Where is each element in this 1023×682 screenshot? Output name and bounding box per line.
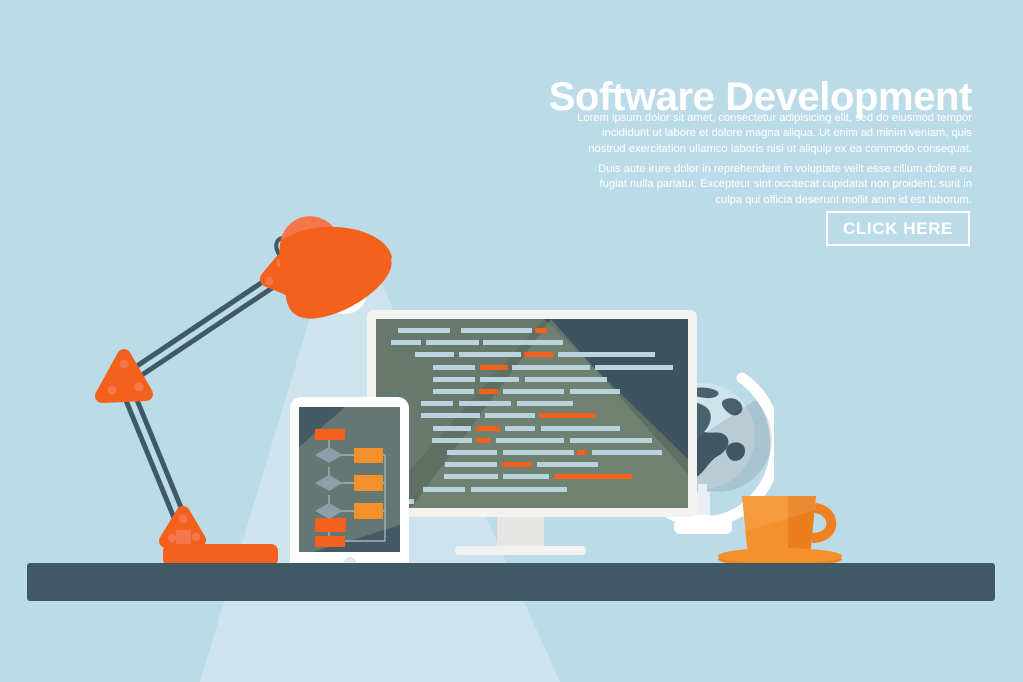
code-line-segment — [503, 450, 574, 455]
code-line-segment — [433, 389, 474, 394]
monitor-stand-base — [455, 546, 586, 555]
code-line-segment — [535, 328, 547, 333]
code-line-segment — [502, 462, 532, 467]
code-line-segment — [595, 365, 673, 370]
code-line-segment — [505, 426, 535, 431]
code-line-segment — [433, 426, 471, 431]
code-line-segment — [525, 377, 607, 382]
code-line-segment — [445, 462, 497, 467]
code-line-segment — [421, 401, 453, 406]
monitor-stand-neck — [497, 516, 544, 549]
desktop-monitor — [367, 310, 697, 517]
code-line-segment — [476, 426, 500, 431]
code-line-segment — [461, 328, 532, 333]
tablet-device — [290, 397, 409, 571]
hero-paragraph-1: Lorem ipsum dolor sit amet, consectetur … — [572, 111, 972, 157]
flowchart-node — [315, 429, 345, 440]
code-line-segment — [570, 438, 652, 443]
click-here-button[interactable]: CLICK HERE — [826, 211, 970, 246]
code-line-segment — [433, 365, 475, 370]
code-line-segment — [423, 487, 465, 492]
illustration-banner: Software Development Lorem ipsum dolor s… — [0, 0, 1023, 682]
code-line-segment — [517, 401, 573, 406]
code-line-segment — [558, 352, 655, 357]
code-line-segment — [391, 340, 421, 345]
code-line-segment — [537, 462, 598, 467]
code-line-segment — [459, 352, 521, 357]
code-line-segment — [541, 426, 620, 431]
code-line-segment — [476, 438, 490, 443]
code-line-segment — [433, 377, 475, 382]
desk-surface — [27, 563, 995, 601]
code-line-segment — [426, 340, 479, 345]
code-line-segment — [459, 401, 511, 406]
code-line-segment — [415, 352, 454, 357]
code-line-segment — [512, 365, 590, 370]
code-line-segment — [503, 389, 564, 394]
flowchart-node — [315, 518, 346, 532]
coffee-cup — [718, 480, 858, 570]
code-line-segment — [496, 438, 564, 443]
code-line-segment — [479, 389, 498, 394]
code-line-segment — [577, 450, 587, 455]
code-line-segment — [447, 450, 497, 455]
code-line-segment — [524, 352, 553, 357]
monitor-screen — [376, 319, 688, 508]
hero-paragraph-2: Duis aute irure dolor in reprehenderit i… — [572, 162, 972, 208]
code-line-segment — [432, 438, 472, 443]
code-line-segment — [570, 389, 620, 394]
code-line-segment — [503, 474, 549, 479]
code-line-segment — [421, 413, 480, 418]
code-line-segment — [483, 340, 563, 345]
code-line-segment — [480, 365, 508, 370]
flowchart-node — [315, 536, 345, 547]
code-line-segment — [471, 487, 567, 492]
code-line-segment — [592, 450, 662, 455]
flowchart-node — [354, 448, 383, 463]
code-line-segment — [485, 413, 535, 418]
code-line-segment — [539, 413, 596, 418]
flowchart-node — [354, 475, 383, 491]
code-line-segment — [398, 328, 450, 333]
code-line-segment — [554, 474, 632, 479]
flowchart-node — [354, 503, 383, 519]
tablet-screen — [299, 407, 400, 552]
code-line-segment — [480, 377, 519, 382]
code-line-segment — [444, 474, 498, 479]
